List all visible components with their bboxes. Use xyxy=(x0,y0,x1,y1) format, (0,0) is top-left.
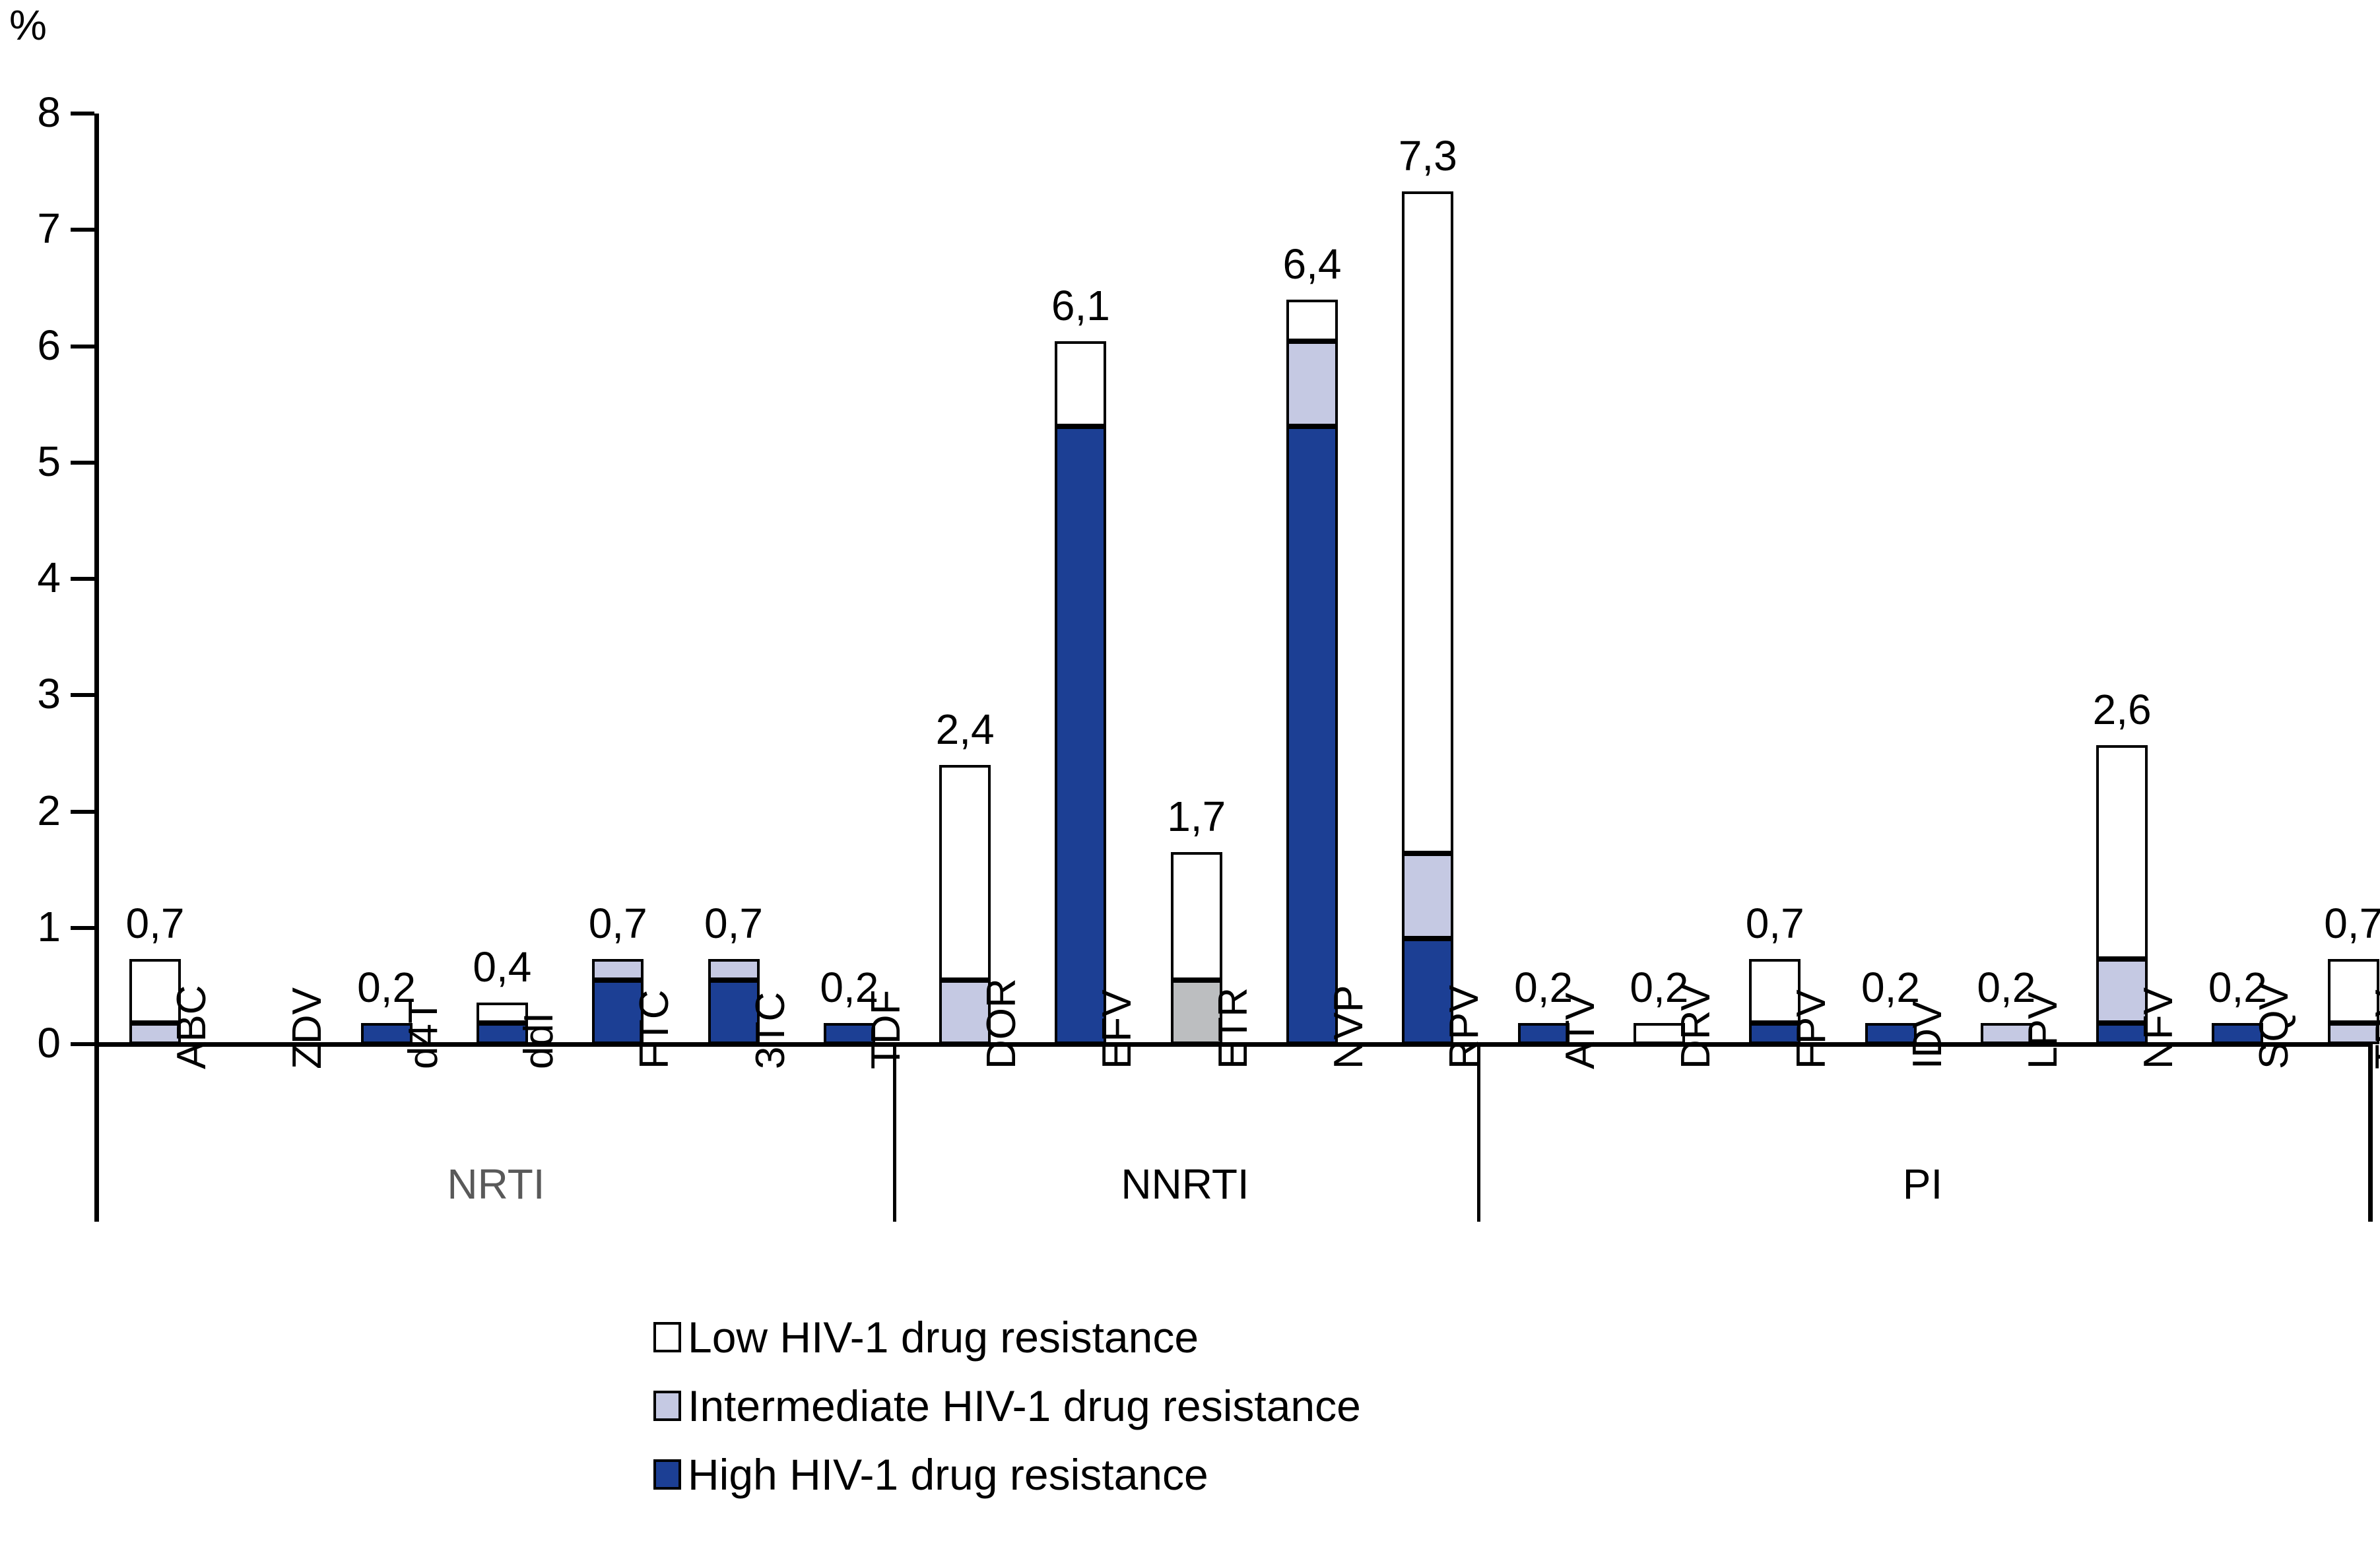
legend-label: Low HIV-1 drug resistance xyxy=(688,1315,1199,1359)
legend-swatch-low xyxy=(653,1322,681,1352)
y-axis-tick-label: 7 xyxy=(8,207,61,249)
y-axis-tick-label: 1 xyxy=(8,906,61,948)
bar-group[interactable]: 1,7 xyxy=(1171,114,1222,1044)
stacked-bar[interactable]: 7,3 xyxy=(1402,114,1453,1044)
group-label-pi: PI xyxy=(1477,1163,2368,1205)
x-axis-label-drv: DRV xyxy=(1676,917,1717,1069)
x-axis-label-ddi: ddI xyxy=(519,917,560,1069)
y-axis-tick-label: 4 xyxy=(8,556,61,599)
x-axis-label-lpv: LPV xyxy=(2023,917,2064,1069)
bar-group[interactable]: 2,6 xyxy=(2096,114,2148,1044)
x-axis-label-nvp: NVP xyxy=(1329,917,1370,1069)
legend-label: High HIV-1 drug resistance xyxy=(688,1453,1208,1496)
bar-group[interactable]: 2,4 xyxy=(939,114,991,1044)
bar-value-label: 2,6 xyxy=(2049,688,2195,731)
x-axis-label-rpv: RPV xyxy=(1444,917,1485,1069)
stacked-bar[interactable]: 0,2 xyxy=(1981,114,2032,1044)
stacked-bar[interactable]: 6,4 xyxy=(1286,114,1338,1044)
legend-item[interactable]: High HIV-1 drug resistance xyxy=(653,1451,1361,1498)
bar-group[interactable]: 0,7 xyxy=(129,114,181,1044)
y-axis-tick-mark xyxy=(71,112,94,116)
y-axis-tick-label: 2 xyxy=(8,789,61,832)
y-axis-tick-mark xyxy=(71,228,94,232)
stacked-bar[interactable]: 0,7 xyxy=(1749,114,1801,1044)
chart-canvas: % 876543210 0,70,20,40,70,70,22,46,11,76… xyxy=(0,0,2380,1555)
bar-segment-inter xyxy=(1286,341,1338,426)
x-axis-label-zdv: ZDV xyxy=(287,917,328,1069)
x-axis-label-nfv: NFV xyxy=(2138,917,2179,1069)
y-axis-tick-mark xyxy=(71,1042,94,1046)
x-axis-label-abc: ABC xyxy=(172,917,213,1069)
stacked-bar[interactable]: 6,1 xyxy=(1055,114,1106,1044)
bar-group[interactable]: 6,4 xyxy=(1286,114,1338,1044)
x-axis-label-3tc: 3TC xyxy=(750,917,791,1069)
y-axis-tick-label: 5 xyxy=(8,440,61,482)
bar-segment-low xyxy=(1286,300,1338,341)
legend-item[interactable]: Intermediate HIV-1 drug resistance xyxy=(653,1382,1361,1430)
bar-group[interactable]: 0,7 xyxy=(2328,114,2379,1044)
bar-group[interactable] xyxy=(245,114,296,1044)
y-axis-tick-label: 3 xyxy=(8,673,61,715)
y-axis-tick-mark xyxy=(71,345,94,348)
bar-group[interactable]: 0,2 xyxy=(1865,114,1917,1044)
bar-segment-low xyxy=(1055,341,1106,426)
x-axis-label-ftc: FTC xyxy=(634,917,675,1069)
bar-value-label: 0,7 xyxy=(2281,902,2380,944)
stacked-bar[interactable]: 0,2 xyxy=(1634,114,1685,1044)
bar-group[interactable]: 0,2 xyxy=(824,114,875,1044)
legend-item[interactable]: Low HIV-1 drug resistance xyxy=(653,1313,1361,1361)
legend: Low HIV-1 drug resistanceIntermediate HI… xyxy=(653,1313,1361,1519)
x-axis-label-efv: EFV xyxy=(1097,917,1138,1069)
stacked-bar[interactable] xyxy=(245,114,296,1044)
bar-value-label: 2,4 xyxy=(892,708,1038,750)
stacked-bar[interactable]: 2,6 xyxy=(2096,114,2148,1044)
y-axis-tick-mark xyxy=(71,810,94,814)
stacked-bar[interactable]: 0,7 xyxy=(2328,114,2379,1044)
stacked-bar[interactable]: 1,7 xyxy=(1171,114,1222,1044)
bar-value-label: 1,7 xyxy=(1124,795,1269,838)
legend-swatch-high xyxy=(653,1459,681,1490)
bar-segment-low xyxy=(1402,191,1453,853)
x-axis-label-d4t: d4T xyxy=(403,917,444,1069)
stacked-bar[interactable]: 0,7 xyxy=(129,114,181,1044)
stacked-bar[interactable]: 0,4 xyxy=(477,114,528,1044)
bar-group[interactable]: 0,2 xyxy=(2212,114,2263,1044)
bar-group[interactable]: 0,2 xyxy=(361,114,413,1044)
x-axis-label-dor: DOR xyxy=(981,917,1022,1069)
bar-value-label: 6,1 xyxy=(1008,284,1153,327)
x-axis-label-sqv: SQV xyxy=(2254,917,2295,1069)
legend-swatch-inter xyxy=(653,1391,681,1421)
bar-group[interactable]: 0,7 xyxy=(592,114,644,1044)
y-axis-tick-label: 6 xyxy=(8,324,61,366)
stacked-bar[interactable]: 0,2 xyxy=(2212,114,2263,1044)
x-axis-label-atv: ATV xyxy=(1560,917,1601,1069)
bar-group[interactable]: 0,7 xyxy=(708,114,760,1044)
stacked-bar[interactable]: 0,7 xyxy=(592,114,644,1044)
bar-group[interactable]: 0,2 xyxy=(1518,114,1570,1044)
bar-group[interactable]: 7,3 xyxy=(1402,114,1453,1044)
x-axis-label-fpv: FPV xyxy=(1791,917,1832,1069)
group-label-nnrti: NNRTI xyxy=(893,1163,1477,1205)
stacked-bar[interactable]: 0,2 xyxy=(361,114,413,1044)
stacked-bar[interactable]: 0,2 xyxy=(1518,114,1570,1044)
bar-group[interactable]: 0,4 xyxy=(477,114,528,1044)
bar-group[interactable]: 0,7 xyxy=(1749,114,1801,1044)
category-frame-left xyxy=(94,1042,99,1222)
x-axis-label-tpv: TPV xyxy=(2370,917,2380,1069)
y-axis-tick-label: 0 xyxy=(8,1022,61,1064)
x-axis-label-idv: IDV xyxy=(1907,917,1948,1069)
y-axis-tick-label: 8 xyxy=(8,91,61,133)
plot-area: 0,70,20,40,70,70,22,46,11,76,47,30,20,20… xyxy=(94,114,2373,1044)
bar-group[interactable]: 0,2 xyxy=(1981,114,2032,1044)
stacked-bar[interactable]: 0,2 xyxy=(1865,114,1917,1044)
x-axis-label-tdf: TDF xyxy=(866,917,907,1069)
x-axis-label-etr: ETR xyxy=(1213,917,1254,1069)
y-axis-unit-label: % xyxy=(9,4,47,46)
y-axis-tick-mark xyxy=(71,693,94,697)
stacked-bar[interactable]: 2,4 xyxy=(939,114,991,1044)
bar-group[interactable]: 6,1 xyxy=(1055,114,1106,1044)
y-axis-tick-mark xyxy=(71,461,94,465)
stacked-bar[interactable]: 0,7 xyxy=(708,114,760,1044)
stacked-bar[interactable]: 0,2 xyxy=(824,114,875,1044)
group-label-nrti: NRTI xyxy=(99,1163,893,1205)
y-axis-tick-mark xyxy=(71,577,94,581)
legend-label: Intermediate HIV-1 drug resistance xyxy=(688,1384,1361,1428)
bar-value-label: 7,3 xyxy=(1355,135,1500,177)
bar-value-label: 6,4 xyxy=(1240,243,1385,285)
bar-group[interactable]: 0,2 xyxy=(1634,114,1685,1044)
